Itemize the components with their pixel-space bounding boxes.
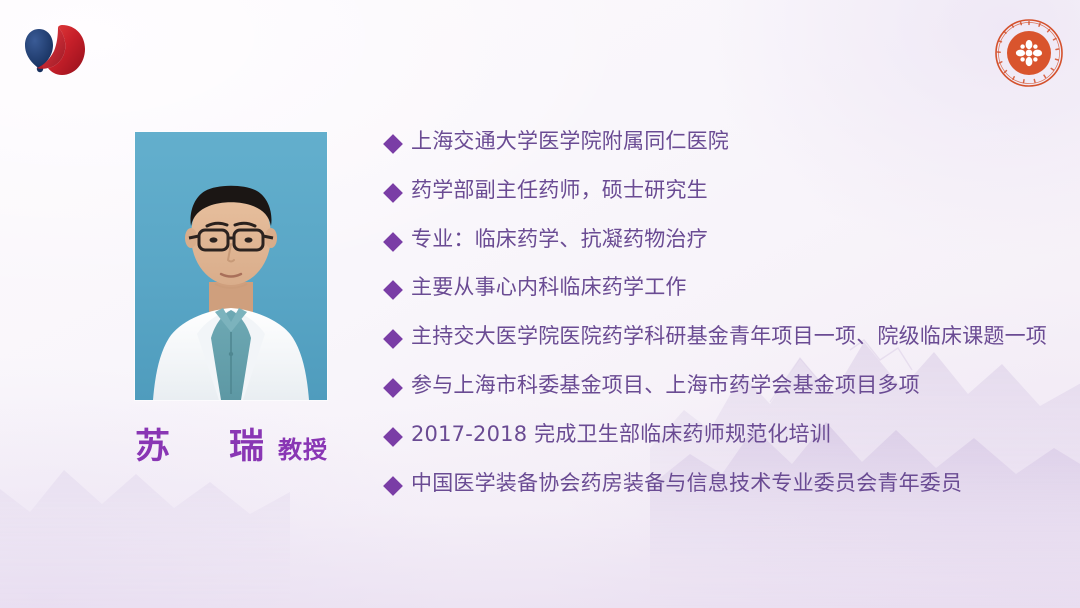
list-item-label: 上海交通大学医学院附属同仁医院 — [411, 128, 729, 156]
list-item: 参与上海市科委基金项目、上海市药学会基金项目多项 — [386, 372, 1062, 421]
speaker-name-caption: 苏 瑞教授 — [135, 430, 327, 465]
speaker-title: 教授 — [278, 436, 328, 464]
mountain-watermark-left — [0, 378, 290, 608]
diamond-bullet-icon — [383, 476, 403, 496]
diamond-bullet-icon — [383, 134, 403, 154]
list-item: 主要从事心内科临床药学工作 — [386, 274, 1062, 323]
list-item: 药学部副主任药师，硕士研究生 — [386, 177, 1062, 226]
speaker-intro-slide: 苏 瑞教授 上海交通大学医学院附属同仁医院 药学部副主任药师，硕士研究生 专业：… — [0, 0, 1080, 608]
list-item-label: 参与上海市科委基金项目、上海市药学会基金项目多项 — [411, 372, 920, 400]
diamond-bullet-icon — [383, 280, 403, 300]
list-item-label: 主要从事心内科临床药学工作 — [411, 274, 687, 302]
list-item: 专业：临床药学、抗凝药物治疗 — [386, 226, 1062, 275]
list-item: 主持交大医学院医院药学科研基金青年项目一项、院级临床课题一项 — [386, 323, 1062, 372]
hospital-circular-seal-logo — [992, 16, 1066, 90]
list-item: 上海交通大学医学院附属同仁医院 — [386, 128, 1062, 177]
diamond-bullet-icon — [383, 427, 403, 447]
list-item-label: 专业：临床药学、抗凝药物治疗 — [411, 226, 708, 254]
diamond-bullet-icon — [383, 183, 403, 203]
diamond-bullet-icon — [383, 329, 403, 349]
list-item-label: 2017-2018 完成卫生部临床药师规范化培训 — [411, 421, 831, 449]
speaker-name: 苏 瑞 — [135, 427, 276, 467]
speaker-portrait-photo — [135, 132, 327, 400]
diamond-bullet-icon — [383, 378, 403, 398]
heart-ribbon-logo — [18, 17, 92, 83]
list-item-label: 中国医学装备协会药房装备与信息技术专业委员会青年委员 — [411, 470, 962, 498]
list-item-label: 主持交大医学院医院药学科研基金青年项目一项、院级临床课题一项 — [411, 323, 1047, 351]
list-item: 中国医学装备协会药房装备与信息技术专业委员会青年委员 — [386, 470, 1062, 519]
diamond-bullet-icon — [383, 232, 403, 252]
credentials-list: 上海交通大学医学院附属同仁医院 药学部副主任药师，硕士研究生 专业：临床药学、抗… — [386, 128, 1062, 518]
portrait-illustration — [135, 132, 327, 400]
list-item: 2017-2018 完成卫生部临床药师规范化培训 — [386, 421, 1062, 470]
list-item-label: 药学部副主任药师，硕士研究生 — [411, 177, 708, 205]
